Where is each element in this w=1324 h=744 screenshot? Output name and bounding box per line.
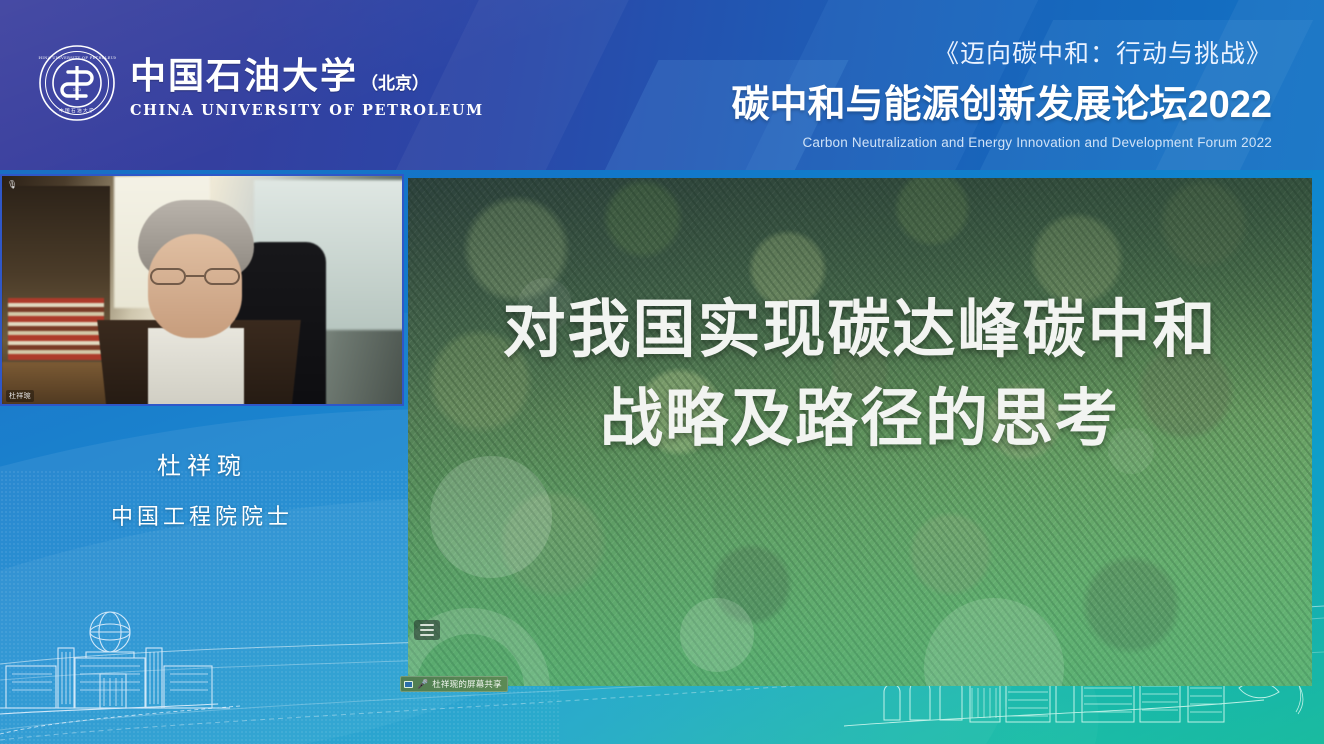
- logo-text-block: 中国石油大学 （北京） CHINA UNIVERSITY OF PETROLEU…: [130, 47, 484, 119]
- svg-text:CHINA UNIVERSITY OF PETROLEUM: CHINA UNIVERSITY OF PETROLEUM: [38, 56, 116, 60]
- screen-share-label: 杜祥琬的屏幕共享: [432, 678, 502, 690]
- video-books: [8, 298, 104, 360]
- shared-slide[interactable]: 对我国实现碳达峰碳中和 战略及路径的思考 杜 祥 琬 2022年12月24日: [408, 178, 1312, 686]
- video-face: [148, 234, 242, 338]
- logo-chinese-name: 中国石油大学: [130, 47, 358, 99]
- video-name-badge: 杜祥琬: [6, 390, 34, 402]
- speaker-video-tile[interactable]: 🎙 杜祥琬: [0, 174, 404, 406]
- university-logo: CHINA UNIVERSITY OF PETROLEUM 中国石油大学 195…: [38, 44, 484, 122]
- video-feed: [2, 176, 402, 404]
- video-person: [120, 200, 272, 406]
- forum-title-block: 《迈向碳中和：行动与挑战》 碳中和与能源创新发展论坛2022 Carbon Ne…: [731, 34, 1272, 150]
- meeting-broadcast-screen: CHINA UNIVERSITY OF PETROLEUM 中国石油大学 195…: [0, 0, 1324, 744]
- svg-text:1953: 1953: [73, 88, 81, 92]
- slide-title: 对我国实现碳达峰碳中和 战略及路径的思考: [408, 286, 1312, 465]
- slide-title-line-2: 战略及路径的思考: [408, 375, 1312, 464]
- slide-title-line-1: 对我国实现碳达峰碳中和: [408, 286, 1312, 375]
- speaker-caption: 杜祥琬 中国工程院院士: [0, 446, 404, 531]
- logo-campus-suffix: （北京）: [361, 69, 429, 99]
- video-shirt: [148, 328, 244, 406]
- forum-title-english: Carbon Neutralization and Energy Innovat…: [731, 135, 1272, 150]
- microphone-icon: 🎤: [417, 680, 428, 689]
- list-menu-icon[interactable]: [414, 620, 440, 640]
- screen-share-status-bar[interactable]: 🎤 杜祥琬的屏幕共享: [400, 676, 508, 692]
- speaker-name: 杜祥琬: [0, 446, 404, 481]
- forum-header-banner: CHINA UNIVERSITY OF PETROLEUM 中国石油大学 195…: [0, 0, 1324, 170]
- video-glasses-icon: [150, 268, 240, 285]
- svg-text:中国石油大学: 中国石油大学: [59, 107, 95, 114]
- forum-book-title: 《迈向碳中和：行动与挑战》: [731, 34, 1272, 70]
- mic-icon: 🎙: [7, 180, 17, 189]
- logo-english-name: CHINA UNIVERSITY OF PETROLEUM: [130, 102, 484, 119]
- speaker-title: 中国工程院院士: [0, 499, 404, 531]
- screen-share-icon: [404, 681, 413, 688]
- university-seal-icon: CHINA UNIVERSITY OF PETROLEUM 中国石油大学 195…: [38, 44, 116, 122]
- forum-main-title: 碳中和与能源创新发展论坛2022: [731, 73, 1272, 128]
- logo-chinese-name-row: 中国石油大学 （北京）: [130, 47, 484, 99]
- campus-building-icon: [0, 594, 300, 744]
